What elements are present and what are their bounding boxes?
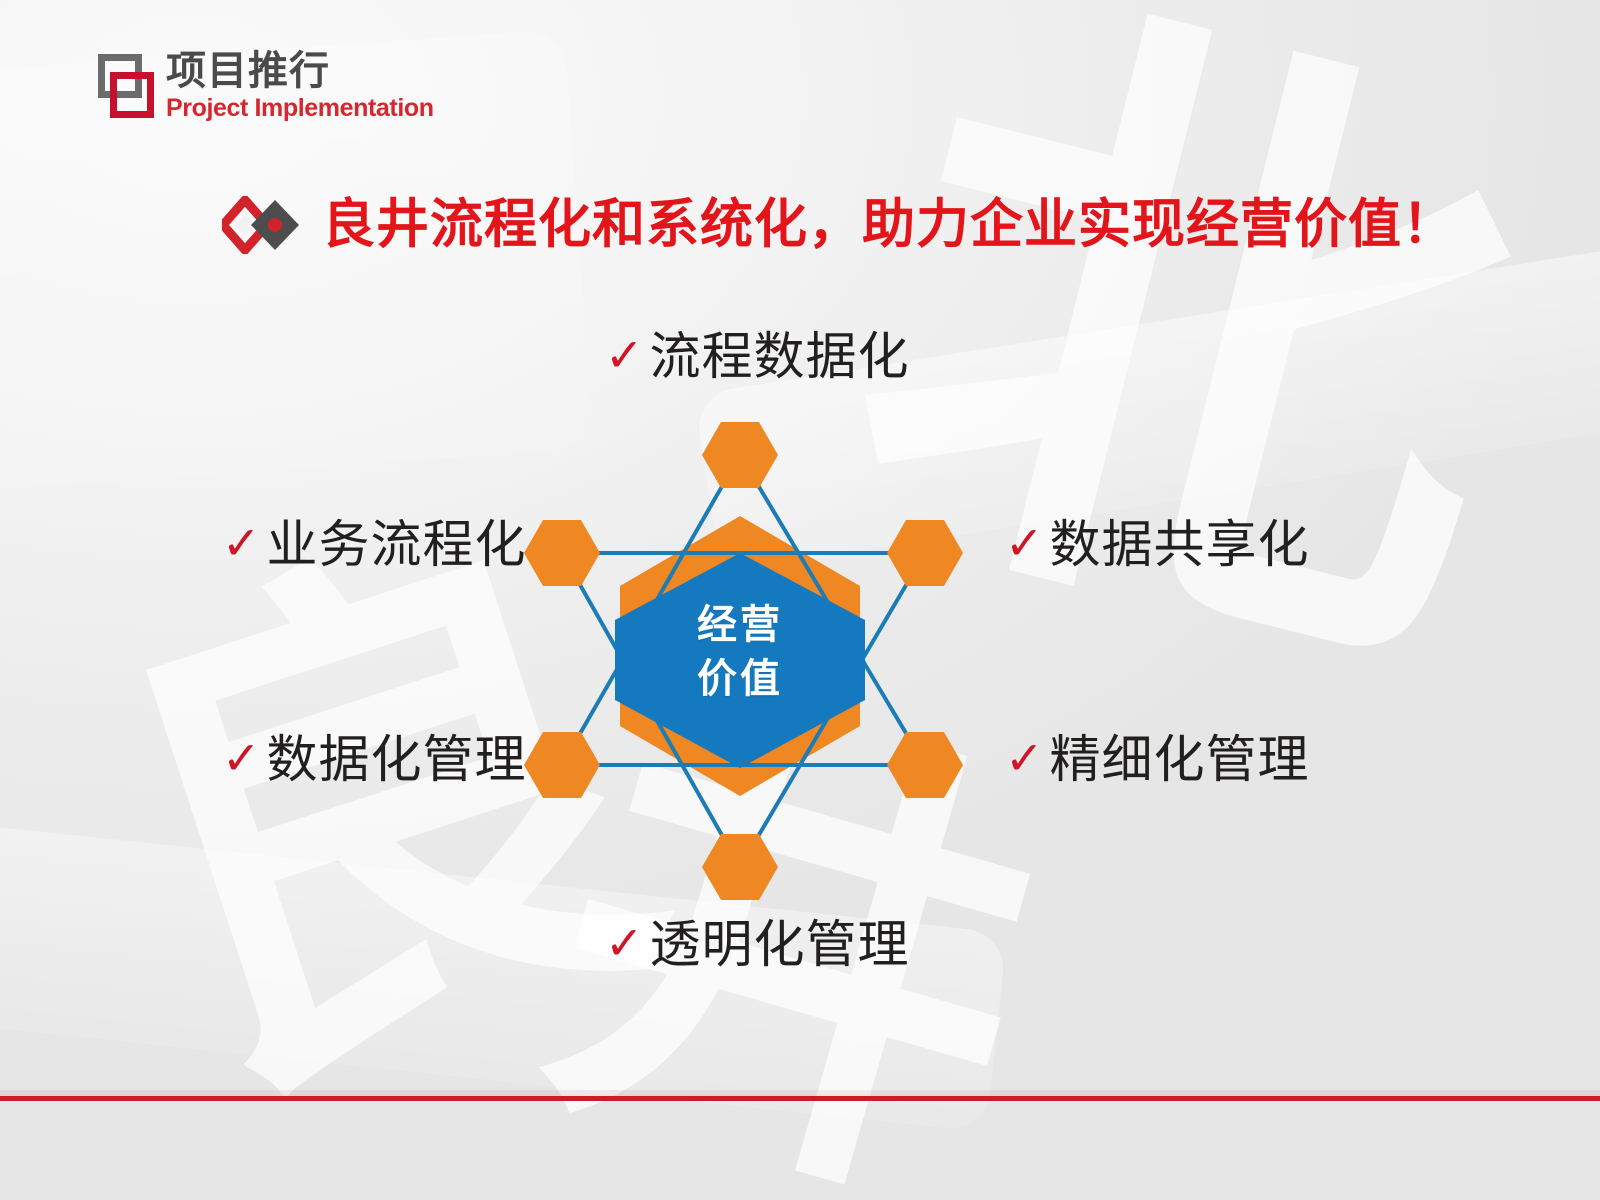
node-hex-top[interactable] [702,422,778,488]
check-icon: ✓ [1005,520,1044,566]
node-label-top[interactable]: ✓ 流程数据化 [605,330,910,386]
node-label-upper-right[interactable]: ✓ 数据共享化 [1005,518,1310,574]
node-hex-upper-left[interactable] [524,520,600,586]
node-hex-lower-left[interactable] [524,732,600,798]
node-label-lower-left-text: 数据化管理 [267,733,527,789]
node-label-lower-right-text: 精细化管理 [1050,733,1310,789]
node-hex-upper-right[interactable] [887,520,963,586]
node-label-upper-right-text: 数据共享化 [1050,518,1310,574]
check-icon: ✓ [222,735,261,781]
node-label-top-text: 流程数据化 [650,330,910,386]
footer-rule [0,1096,1600,1101]
center-hub-label: 经营 价值 [640,598,840,706]
check-icon: ✓ [222,520,261,566]
node-label-upper-left[interactable]: ✓ 业务流程化 [222,518,527,574]
center-hub-line2: 价值 [640,652,840,706]
check-icon: ✓ [605,920,644,966]
check-icon: ✓ [1005,735,1044,781]
node-label-upper-left-text: 业务流程化 [267,518,527,574]
check-icon: ✓ [605,332,644,378]
node-hex-bottom[interactable] [702,834,778,900]
node-label-lower-left[interactable]: ✓ 数据化管理 [222,733,527,789]
node-label-bottom-text: 透明化管理 [650,918,910,974]
node-hex-lower-right[interactable] [887,732,963,798]
slide-canvas: 北 良 井 项目推行 Project Implementation 良井流程化和… [0,0,1600,1200]
center-hub-line1: 经营 [640,598,840,652]
node-label-lower-right[interactable]: ✓ 精细化管理 [1005,733,1310,789]
node-label-bottom[interactable]: ✓ 透明化管理 [605,918,910,974]
